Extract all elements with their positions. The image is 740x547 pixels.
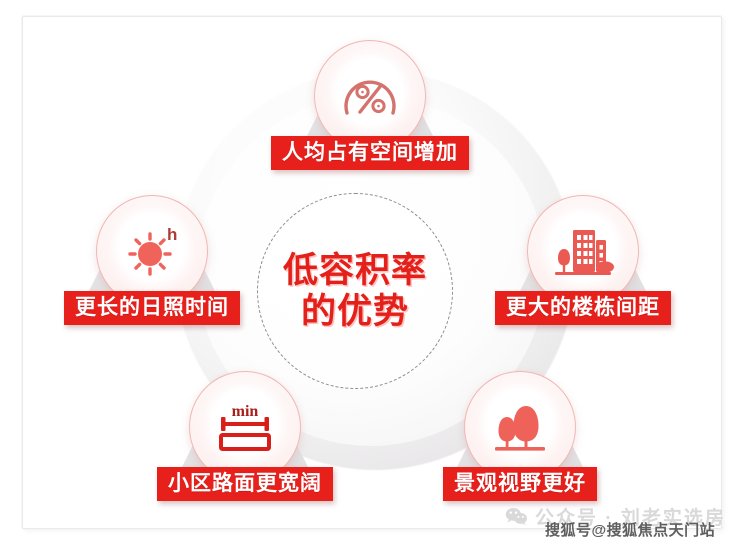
infographic-canvas: 低容积率 的优势 人均占有空间增加: [0, 0, 740, 547]
node-label-badge[interactable]: 人均占有空间增加: [271, 136, 469, 170]
center-title-line1: 低容积率: [283, 251, 427, 290]
node-label-badge[interactable]: 更长的日照时间: [64, 291, 240, 325]
buildings-icon: [551, 222, 615, 280]
percent-gauge-icon: [339, 69, 401, 123]
sun-hours-icon: h: [121, 222, 183, 280]
min-width-icon-text: min: [232, 403, 259, 420]
min-width-icon: min: [212, 399, 278, 455]
wechat-icon: [505, 507, 528, 526]
trees-icon: [489, 399, 551, 455]
node-label-badge[interactable]: 小区路面更宽阔: [157, 467, 333, 501]
sohu-watermark: 搜狐号@搜狐焦点天门站: [545, 519, 715, 540]
node-label-badge[interactable]: 景观视野更好: [443, 467, 597, 501]
sun-hours-icon-text: h: [167, 225, 177, 244]
node-label-badge[interactable]: 更大的楼栋间距: [495, 291, 671, 325]
center-title-group: 低容积率 的优势: [257, 193, 453, 389]
center-title-line2: 的优势: [301, 292, 409, 331]
